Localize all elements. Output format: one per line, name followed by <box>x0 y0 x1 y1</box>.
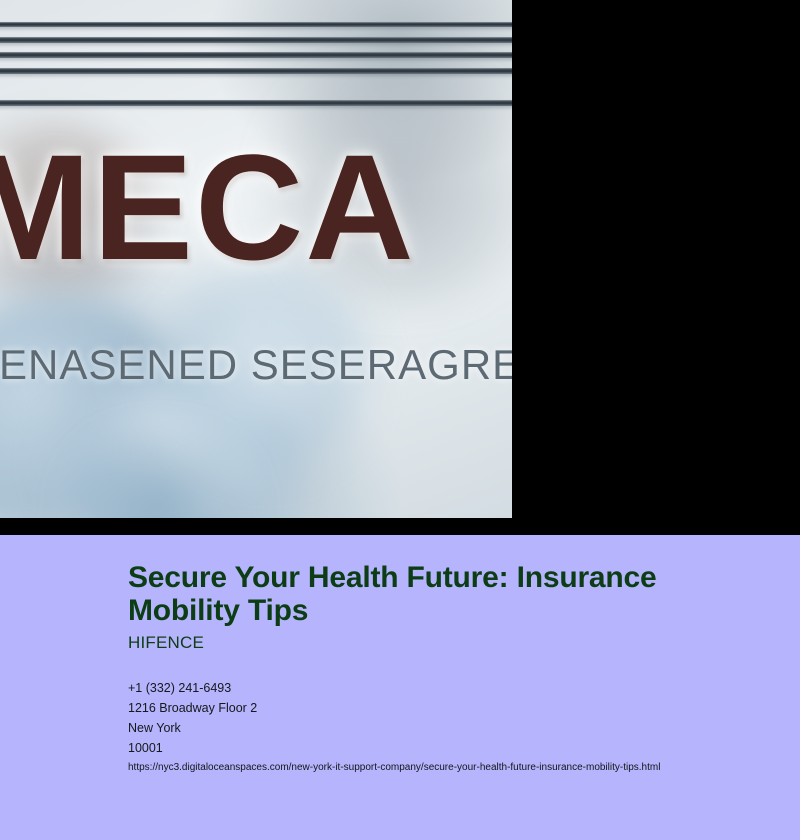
contact-details-list: +1 (332) 241-6493 1216 Broadway Floor 2 … <box>128 678 257 758</box>
hero-hand-blob-lower <box>60 430 260 518</box>
hero-hand-blob-center <box>40 370 300 518</box>
hero-slat-5 <box>0 100 512 106</box>
hero-slat-2 <box>0 37 512 43</box>
hero-slat-3 <box>0 52 512 58</box>
article-content-panel: Secure Your Health Future: Insurance Mob… <box>0 535 800 840</box>
hero-hand-blob-left <box>0 300 210 518</box>
page-title: Secure Your Health Future: Insurance Mob… <box>128 561 694 627</box>
contact-phone: +1 (332) 241-6493 <box>128 678 257 698</box>
brand-name: HIFENCE <box>128 633 204 653</box>
hero-wordmark-text: MECA <box>0 132 512 282</box>
contact-city: New York <box>128 718 257 738</box>
hero-slat-4 <box>0 68 512 74</box>
hero-slat-1 <box>0 22 512 27</box>
contact-postal-code: 10001 <box>128 738 257 758</box>
hero-banner-image: MECA SENASENED SESERAGRES <box>0 0 512 518</box>
source-url-link[interactable]: https://nyc3.digitaloceanspaces.com/new-… <box>128 761 660 774</box>
contact-street: 1216 Broadway Floor 2 <box>128 698 257 718</box>
page-root: MECA SENASENED SESERAGRES Secure Your He… <box>0 0 800 840</box>
hero-subwordmark-text: SENASENED SESERAGRES <box>0 344 512 386</box>
